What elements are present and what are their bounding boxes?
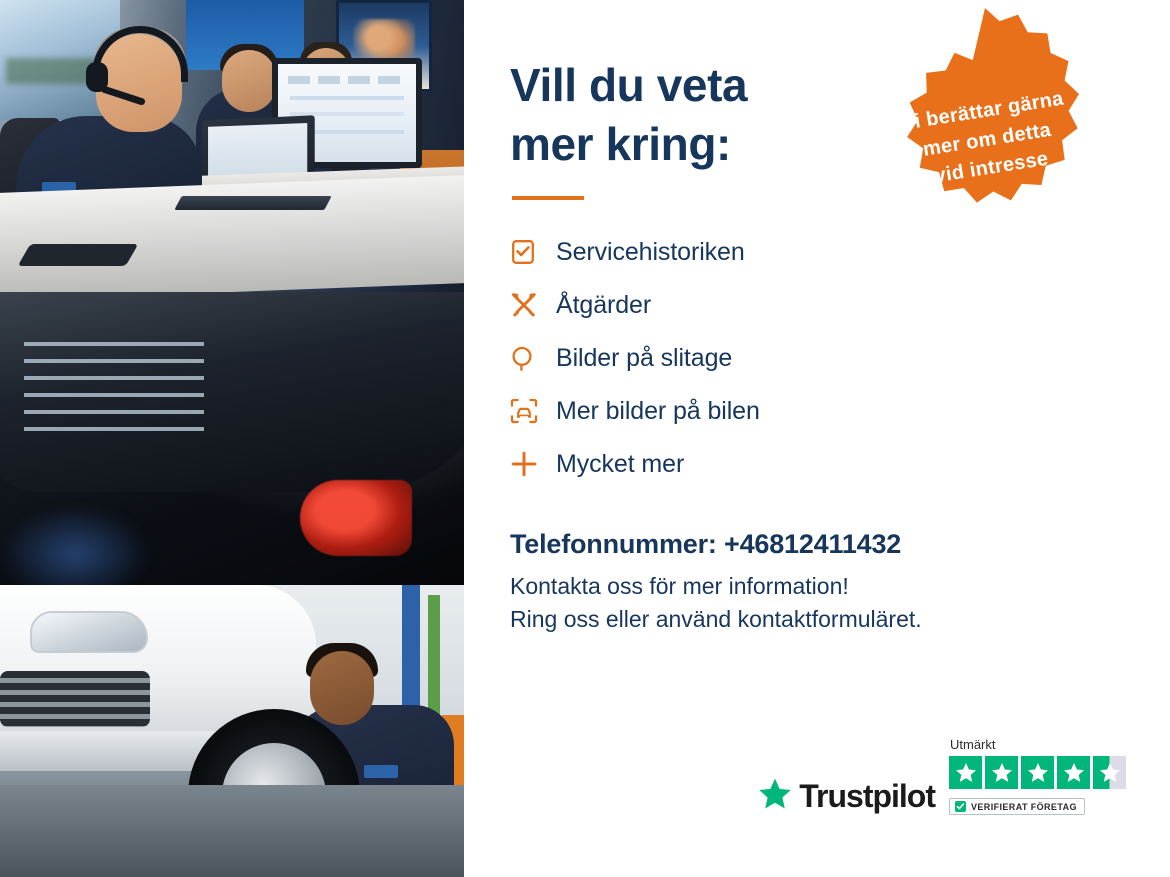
star-filled-4	[1057, 756, 1090, 789]
photo3-grille	[0, 671, 150, 727]
star-half-5	[1093, 756, 1126, 789]
contact-line-1: Kontakta oss för mer information!	[510, 573, 849, 599]
car-scan-icon	[510, 398, 556, 424]
mechanic-wheel-service-photo	[0, 585, 464, 877]
feature-label: Mer bilder på bilen	[556, 397, 760, 426]
checklist-icon	[510, 239, 556, 265]
feature-item-bilder-pa-slitage: Bilder på slitage	[510, 332, 1130, 385]
car-inspection-ruler-tablet-photo: AUTOHERO	[0, 292, 464, 585]
phone-number-line: Telefonnummer: +46812411432	[510, 529, 1130, 560]
trustpilot-widget[interactable]: Trustpilot Utmärkt	[758, 737, 1126, 815]
headline-line-2: mer kring:	[510, 118, 731, 170]
feature-list: Servicehistoriken Åtgärder	[510, 226, 1130, 491]
star-filled-2	[985, 756, 1018, 789]
verified-company-text: VERIFIERAT FÖRETAG	[971, 802, 1077, 812]
photo3-mechanic-logo-badge	[364, 765, 398, 778]
magnifier-icon	[510, 345, 556, 372]
content-column: Vill du veta mer kring: Servicehistorike…	[464, 0, 1170, 877]
badge-content: Vi berättar gärna mer om detta vid intre…	[844, 0, 1125, 268]
contact-instructions: Kontakta oss för mer information! Ring o…	[510, 570, 1130, 637]
photo3-mechanic-head	[310, 651, 374, 725]
phone-number[interactable]: +46812411432	[724, 529, 901, 559]
trustpilot-star-icon	[758, 777, 792, 815]
contact-line-2: Ring oss eller använd kontaktformuläret.	[510, 606, 922, 632]
trustpilot-logo[interactable]: Trustpilot	[758, 777, 935, 815]
star-filled-1	[949, 756, 982, 789]
plus-icon	[510, 450, 556, 478]
feature-label: Servicehistoriken	[556, 238, 745, 267]
feature-item-mycket-mer: Mycket mer	[510, 438, 1130, 491]
photo2-background-glow	[0, 506, 150, 585]
feature-item-mer-bilder-pa-bilen: Mer bilder på bilen	[510, 385, 1130, 438]
badge-text: Vi berättar gärna mer om detta vid intre…	[893, 84, 1080, 196]
title-underline-rule	[512, 196, 584, 200]
column-divider	[464, 0, 466, 877]
photo1-agent2-head	[222, 50, 276, 112]
headline-line-1: Vill du veta	[510, 59, 747, 111]
photo1-laptop-keyboard	[174, 196, 331, 210]
callout-badge: Vi berättar gärna mer om detta vid intre…	[862, 4, 1108, 250]
trustpilot-rating-label: Utmärkt	[950, 737, 996, 752]
trustpilot-wordmark: Trustpilot	[799, 778, 935, 815]
page-title: Vill du veta mer kring:	[510, 56, 870, 174]
photo3-headlight	[30, 611, 148, 653]
feature-item-atgarder: Åtgärder	[510, 279, 1130, 332]
feature-label: Åtgärder	[556, 291, 651, 320]
phone-label: Telefonnummer:	[510, 529, 717, 559]
verified-company-badge: VERIFIERAT FÖRETAG	[949, 798, 1085, 815]
wrench-screwdriver-icon	[510, 291, 556, 319]
photo2-taillight	[300, 480, 412, 556]
photo1-tablet	[18, 244, 139, 266]
feature-label: Bilder på slitage	[556, 344, 732, 373]
photo2-tablet-screen-rows	[24, 342, 204, 442]
feature-label: Mycket mer	[556, 450, 684, 479]
verified-check-icon	[955, 801, 966, 812]
trustpilot-stars	[949, 756, 1126, 789]
promo-page: AUTOHERO	[0, 0, 1170, 877]
photo1-front-desk	[0, 175, 464, 292]
trustpilot-rating-block: Utmärkt	[949, 737, 1126, 815]
photo3-workshop-floor	[0, 785, 464, 877]
photo-column: AUTOHERO	[0, 0, 464, 877]
star-filled-3	[1021, 756, 1054, 789]
photo3-wall-panel-blue	[402, 585, 420, 725]
call-center-agents-photo	[0, 0, 464, 292]
